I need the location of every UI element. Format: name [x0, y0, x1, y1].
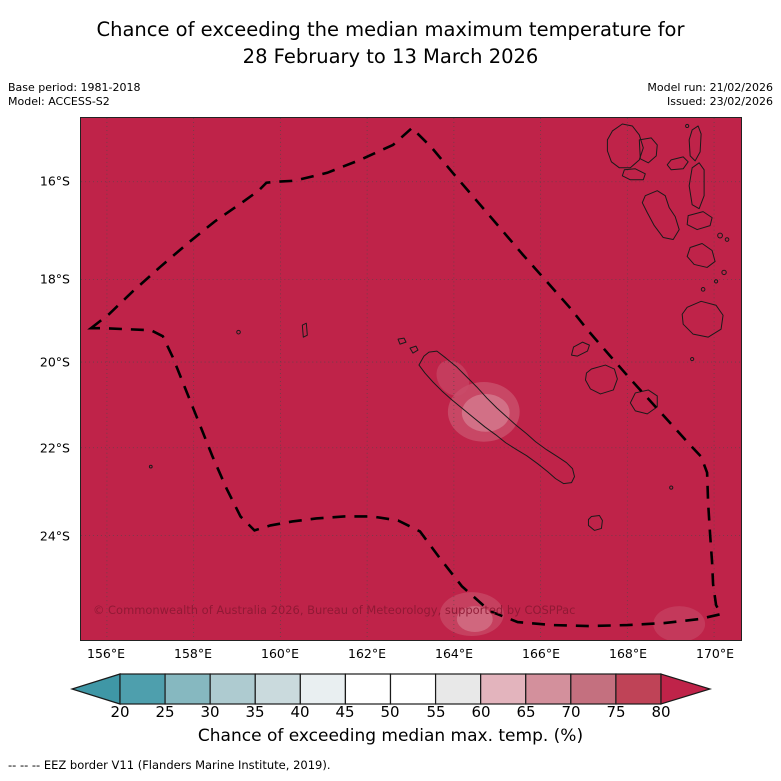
colorbar-segment	[526, 674, 571, 704]
y-tick-3: 22°S	[0, 441, 70, 456]
colorbar-tick-7: 55	[426, 703, 445, 721]
colorbar-segment	[571, 674, 616, 704]
x-tick-6: 168°E	[609, 646, 647, 661]
colorbar-label: Chance of exceeding median max. temp. (%…	[0, 726, 781, 746]
colorbar-tick-1: 25	[155, 703, 174, 721]
colorbar-segment	[255, 674, 300, 704]
colorbar-segment	[391, 674, 436, 704]
model-text: Model: ACCESS-S2	[8, 95, 140, 109]
colorbar-tick-8: 60	[471, 703, 490, 721]
colorbar-segment	[616, 674, 661, 704]
colorbar-tick-3: 35	[245, 703, 264, 721]
x-tick-4: 164°E	[435, 646, 473, 661]
colorbar-segment	[300, 674, 345, 704]
colorbar-tick-10: 70	[561, 703, 580, 721]
colorbar-tick-2: 30	[200, 703, 219, 721]
header-meta-right: Model run: 21/02/2026 Issued: 23/02/2026	[647, 81, 773, 109]
header-meta-left: Base period: 1981-2018 Model: ACCESS-S2	[8, 81, 140, 109]
colorbar-segment	[210, 674, 255, 704]
colorbar-extend-low	[72, 674, 120, 704]
x-tick-0: 156°E	[87, 646, 125, 661]
colorbar-tick-11: 75	[606, 703, 625, 721]
colorbar-extend-high	[661, 674, 710, 704]
map-background	[81, 118, 741, 640]
x-tick-2: 160°E	[261, 646, 299, 661]
colorbar-tick-4: 40	[290, 703, 309, 721]
y-tick-4: 24°S	[0, 529, 70, 544]
page-title: Chance of exceeding the median maximum t…	[0, 16, 781, 70]
colorbar-segment	[436, 674, 481, 704]
y-tick-0: 16°S	[0, 174, 70, 189]
map-svg: © Commonwealth of Australia 2026, Bureau…	[81, 118, 741, 640]
colorbar-tick-12: 80	[651, 703, 670, 721]
base-period-text: Base period: 1981-2018	[8, 81, 140, 95]
y-tick-2: 20°S	[0, 355, 70, 370]
issued-text: Issued: 23/02/2026	[647, 95, 773, 109]
colorbar-segment	[481, 674, 526, 704]
model-run-text: Model run: 21/02/2026	[647, 81, 773, 95]
x-tick-5: 166°E	[522, 646, 560, 661]
colorbar-segment	[345, 674, 390, 704]
map-plot-area[interactable]: © Commonwealth of Australia 2026, Bureau…	[80, 117, 742, 641]
colorbar-segment	[120, 674, 165, 704]
y-tick-1: 18°S	[0, 272, 70, 287]
footer-legend: -- -- -- EEZ border V11 (Flanders Marine…	[8, 758, 330, 772]
colorbar-segment	[165, 674, 210, 704]
x-tick-7: 170°E	[696, 646, 734, 661]
colorbar-segments	[72, 674, 710, 704]
x-tick-3: 162°E	[348, 646, 386, 661]
x-tick-1: 158°E	[174, 646, 212, 661]
colorbar-tick-9: 65	[516, 703, 535, 721]
map-copyright: © Commonwealth of Australia 2026, Bureau…	[93, 603, 575, 617]
colorbar-tick-5: 45	[335, 703, 354, 721]
colorbar-tick-6: 50	[380, 703, 399, 721]
colorbar-tick-0: 20	[110, 703, 129, 721]
